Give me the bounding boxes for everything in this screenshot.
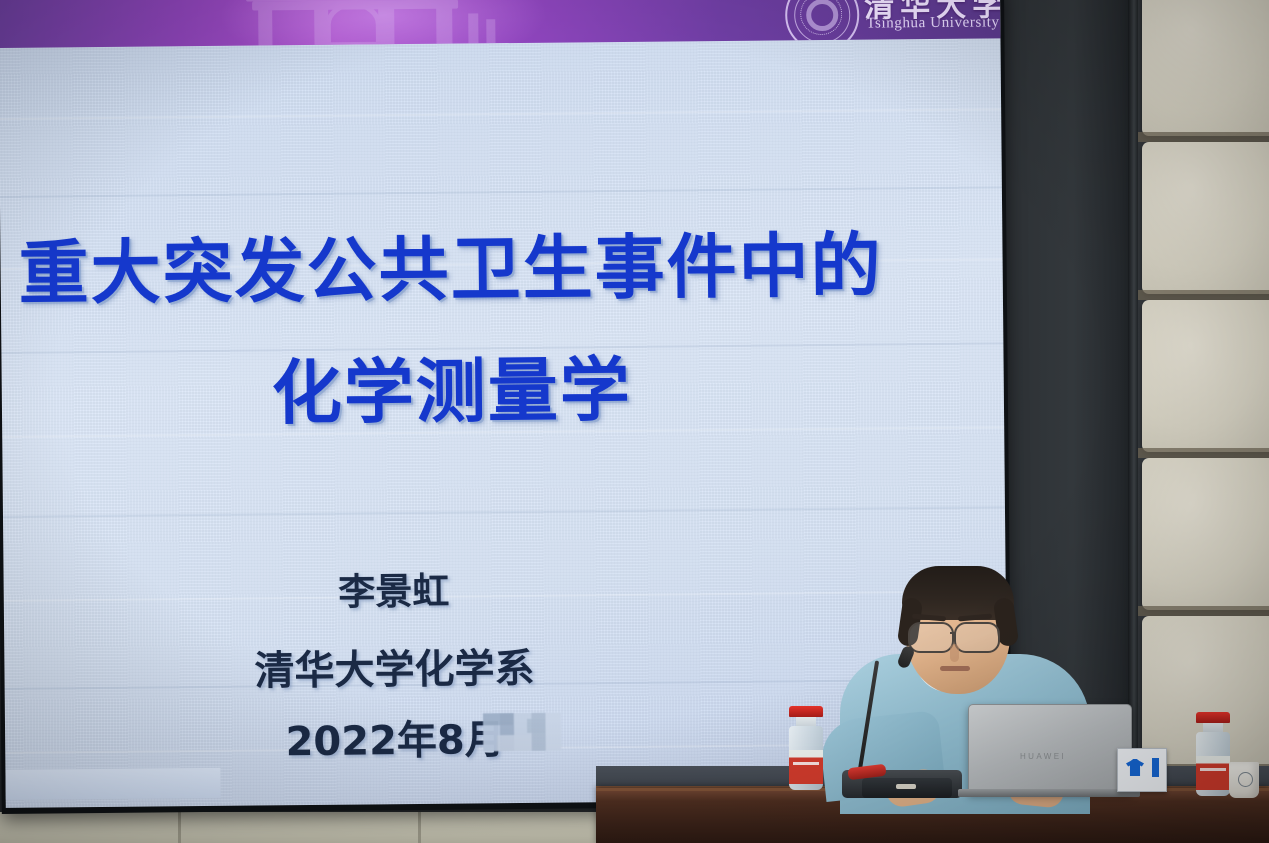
tshirt-icon [1126,759,1144,776]
laptop-icon [968,704,1132,794]
slide-presenter-name: 李景虹 [0,557,844,620]
presenter-mouth [940,666,970,671]
slide-affiliation: 清华大学化学系 [0,633,845,700]
lecture-hall-photo: 清华大学 Tsinghua University 重大突发公共卫生事件中的 化学… [0,0,1269,843]
paper-cup-icon [1229,762,1259,798]
water-bottle-icon-right [1196,712,1230,796]
microphone-indicator [896,784,916,789]
presenter-nose [950,644,959,662]
eyeglasses-icon [908,622,954,653]
redacted-date-block [483,713,561,752]
windows-taskbar[interactable]: 输入你想搜的 [5,768,220,800]
slide-title-line1: 重大突发公共卫生事件中的 [0,209,901,319]
water-bottle-icon [789,706,823,790]
slide-title-line2: 化学测量学 [1,331,902,441]
acoustic-panel-lower-left [0,812,596,843]
slide-banner: 清华大学 Tsinghua University [0,0,1000,48]
banner-university-en: Tsinghua University [866,14,999,32]
tablet-screen-icon[interactable] [1117,748,1167,792]
laptop-base [958,789,1140,797]
laptop-brand-label: HUAWEI [1020,752,1066,761]
eyeglasses-bridge [950,632,956,634]
cup-logo-icon [1238,772,1253,787]
tsinghua-gate-illustration [228,0,658,46]
tsinghua-seal-icon [785,0,860,48]
eyeglasses-lens-right [954,622,1000,653]
tablet-bar-icon [1152,758,1159,777]
slide-date: 2022年8月 [0,704,845,771]
